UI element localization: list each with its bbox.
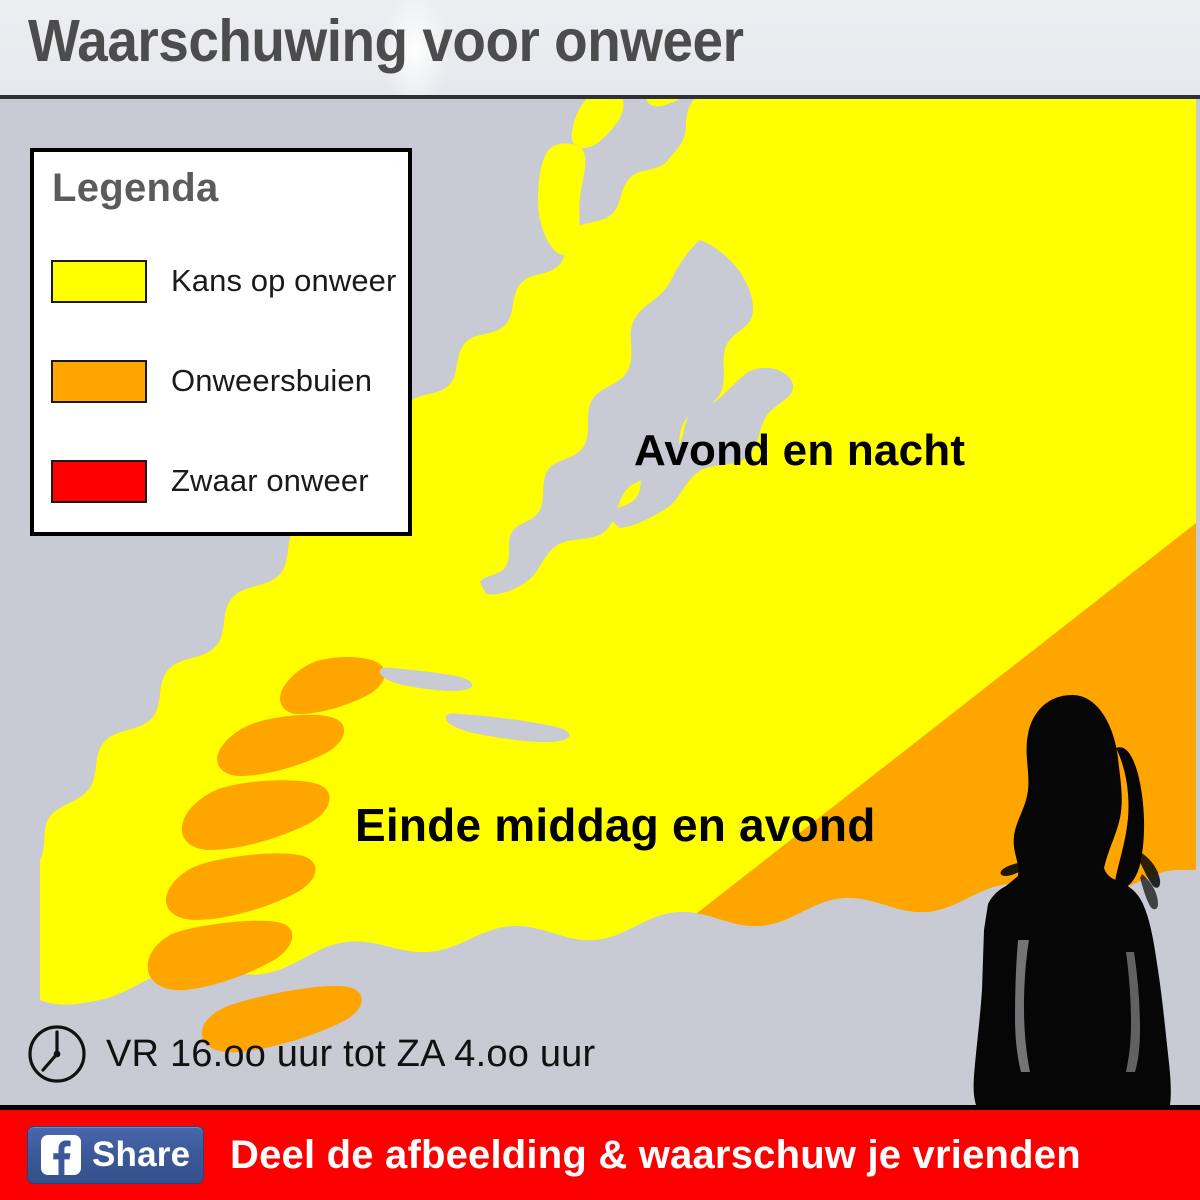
legend-row-kans-op-onweer: Kans op onweer — [51, 259, 396, 303]
share-message: Deel de afbeelding & waarschuw je vriend… — [230, 1133, 1081, 1178]
facebook-share-button[interactable]: Share — [27, 1126, 204, 1184]
legend-label-kans-op-onweer: Kans op onweer — [171, 263, 396, 299]
infographic-root: Avond en nacht Einde middag en avond — [0, 0, 1200, 1200]
facebook-share-label: Share — [92, 1135, 190, 1175]
title-bar: Waarschuwing voor onweer — [0, 0, 1200, 99]
validity-time-row: VR 16.oo uur tot ZA 4.oo uur — [26, 1017, 595, 1091]
legend-label-onweersbuien: Onweersbuien — [171, 363, 372, 399]
share-footer: Share Deel de afbeelding & waarschuw je … — [0, 1105, 1200, 1200]
facebook-icon — [41, 1135, 81, 1175]
woman-silhouette — [944, 690, 1200, 1105]
legend-swatch-yellow — [51, 260, 147, 303]
legend-row-onweersbuien: Onweersbuien — [51, 359, 372, 403]
legend-swatch-red — [51, 460, 147, 503]
clock-icon — [26, 1023, 88, 1085]
page-title: Waarschuwing voor onweer — [28, 7, 744, 75]
region-label-noord: Avond en nacht — [634, 426, 965, 476]
legend-title: Legenda — [52, 166, 219, 211]
legend-label-zwaar-onweer: Zwaar onweer — [171, 463, 369, 499]
region-label-zuid: Einde middag en avond — [355, 798, 876, 852]
validity-time-text: VR 16.oo uur tot ZA 4.oo uur — [106, 1033, 595, 1076]
legend-swatch-orange — [51, 360, 147, 403]
legend-box: Legenda Kans op onweer Onweersbuien Zwaa… — [30, 148, 412, 536]
legend-row-zwaar-onweer: Zwaar onweer — [51, 459, 369, 503]
